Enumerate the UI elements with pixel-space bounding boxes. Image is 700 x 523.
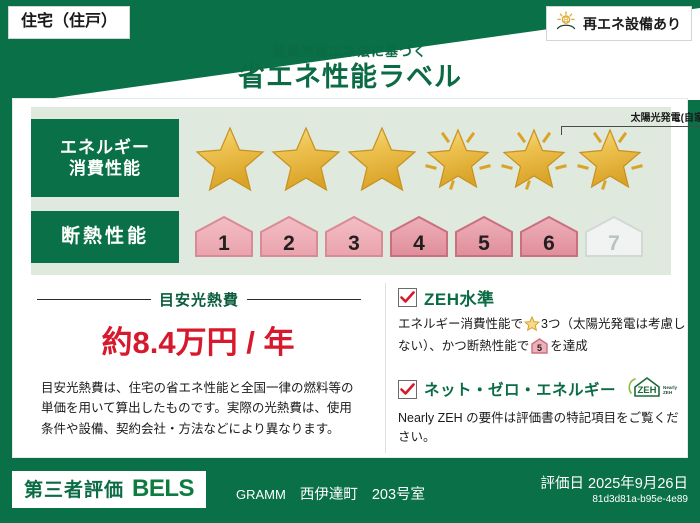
net-zero-energy-header: ネット・ゼロ・エネルギー ZEH Nearly ZEH bbox=[398, 375, 687, 404]
insulation-grade-list: 1 2 3 bbox=[179, 211, 645, 263]
svg-text:5: 5 bbox=[537, 343, 542, 353]
insulation-grade-1-value: 1 bbox=[218, 232, 230, 260]
bels-en-label: BELS bbox=[132, 475, 194, 503]
star-3 bbox=[345, 122, 419, 194]
insulation-grade-2: 2 bbox=[258, 214, 320, 260]
energy-performance-row: エネルギー 消費性能 太陽光発電(自家消費)分 bbox=[31, 119, 647, 197]
insulation-grades-container: 1 2 3 bbox=[179, 211, 645, 263]
renewable-energy-badge: 日 再エネ設備あり bbox=[546, 6, 692, 41]
title-block: 建築物省エネ法に基づく 省エネ性能ラベル bbox=[0, 44, 700, 93]
town-name: 西伊達町 bbox=[300, 483, 358, 504]
insulation-performance-label: 断熱性能 bbox=[31, 211, 179, 263]
net-zero-energy-item: ネット・ゼロ・エネルギー ZEH Nearly ZEH Nearly ZEH の… bbox=[398, 375, 687, 448]
insulation-grade-7-value: 7 bbox=[608, 232, 620, 260]
room-number: 203号室 bbox=[372, 483, 425, 504]
utility-cost-heading: 目安光熱費 bbox=[37, 289, 361, 310]
insulation-performance-row: 断熱性能 bbox=[31, 211, 645, 263]
evaluation-id: 81d3d81a-b95e-4e89 bbox=[541, 493, 688, 507]
star-2 bbox=[269, 122, 343, 194]
insulation-grade-5: 5 bbox=[453, 214, 515, 260]
utility-cost-section: 目安光熱費 約8.4万円 / 年 目安光熱費は、住宅の省エネ性能と全国一律の燃料… bbox=[13, 279, 383, 457]
svg-text:ZEH: ZEH bbox=[663, 390, 673, 395]
zeh-house-logo-icon: ZEH Nearly ZEH bbox=[627, 375, 683, 404]
page-title: 省エネ性能ラベル bbox=[0, 61, 700, 93]
net-zero-energy-body: Nearly ZEH の要件は評価書の特記項目をご覧ください。 bbox=[398, 409, 687, 448]
insulation-grade-7: 7 bbox=[583, 214, 645, 260]
lower-section: 目安光熱費 約8.4万円 / 年 目安光熱費は、住宅の省エネ性能と全国一律の燃料… bbox=[13, 279, 689, 457]
zeh-standard-header: ZEH水準 bbox=[398, 285, 687, 310]
insulation-grade-inline-badge: 5 bbox=[531, 338, 548, 360]
renewable-energy-badge-label: 再エネ設備あり bbox=[583, 15, 681, 33]
zeh-standard-body: エネルギー消費性能で3つ（太陽光発電は考慮しない）、かつ断熱性能で5を達成 bbox=[398, 315, 687, 361]
utility-cost-heading-label: 目安光熱費 bbox=[159, 289, 239, 310]
property-address: GRAMM 西伊達町 203号室 bbox=[236, 483, 425, 504]
evaluation-info: 評価日 2025年9月26日 81d3d81a-b95e-4e89 bbox=[541, 475, 688, 507]
insulation-grade-1: 1 bbox=[193, 214, 255, 260]
checkmark-icon bbox=[398, 380, 417, 399]
zeh-standard-item: ZEH水準 エネルギー消費性能で3つ（太陽光発電は考慮しない）、かつ断熱性能で5… bbox=[398, 285, 687, 361]
zeh-standard-body-part3: を達成 bbox=[550, 339, 588, 353]
utility-cost-note: 目安光熱費は、住宅の省エネ性能と全国一律の燃料等の単価を用いて算出したものです。… bbox=[41, 378, 357, 439]
zeh-section: ZEH水準 エネルギー消費性能で3つ（太陽光発電は考慮しない）、かつ断熱性能で5… bbox=[385, 283, 687, 453]
star-rating bbox=[179, 119, 647, 197]
insulation-grade-3-value: 3 bbox=[348, 232, 360, 260]
checkmark-icon bbox=[398, 288, 417, 307]
title-subtitle: 建築物省エネ法に基づく bbox=[0, 44, 700, 60]
main-card: エネルギー 消費性能 太陽光発電(自家消費)分 bbox=[12, 98, 688, 458]
star-6-solar bbox=[573, 122, 647, 194]
insulation-grade-3: 3 bbox=[323, 214, 385, 260]
bels-jp-label: 第三者評価 bbox=[24, 475, 124, 502]
bels-certification-badge: 第三者評価 BELS bbox=[12, 471, 206, 508]
insulation-grade-5-value: 5 bbox=[478, 232, 490, 260]
performance-panel: エネルギー 消費性能 太陽光発電(自家消費)分 bbox=[31, 107, 671, 275]
energy-label-line1: エネルギー bbox=[60, 137, 150, 158]
utility-cost-value: 約8.4万円 / 年 bbox=[13, 317, 383, 362]
star-icon bbox=[524, 316, 540, 337]
cost-heading-rule-right bbox=[247, 299, 361, 300]
svg-text:ZEH: ZEH bbox=[638, 385, 657, 396]
insulation-grade-6-value: 6 bbox=[543, 232, 555, 260]
energy-label-line2: 消費性能 bbox=[69, 158, 141, 179]
company-name: GRAMM bbox=[236, 487, 286, 502]
star-1 bbox=[193, 122, 267, 194]
energy-performance-label: エネルギー 消費性能 bbox=[31, 119, 179, 197]
star-5-solar bbox=[497, 122, 571, 194]
net-zero-energy-title: ネット・ゼロ・エネルギー bbox=[424, 378, 616, 400]
evaluation-date: 評価日 2025年9月26日 bbox=[541, 475, 688, 493]
footer-bar: 第三者評価 BELS GRAMM 西伊達町 203号室 評価日 2025年9月2… bbox=[0, 461, 700, 523]
insulation-grade-2-value: 2 bbox=[283, 232, 295, 260]
zeh-standard-title: ZEH水準 bbox=[424, 285, 495, 310]
insulation-grade-4: 4 bbox=[388, 214, 450, 260]
sun-solar-icon: 日 bbox=[555, 11, 577, 36]
energy-performance-label: 建築物省エネ法に基づく 省エネ性能ラベル 住宅（住戸） 日 再エネ設備あり bbox=[0, 0, 700, 523]
energy-stars-container: 太陽光発電(自家消費)分 bbox=[179, 119, 647, 197]
zeh-standard-body-part1: エネルギー消費性能で bbox=[398, 317, 523, 331]
insulation-grade-4-value: 4 bbox=[413, 232, 425, 260]
insulation-grade-6: 6 bbox=[518, 214, 580, 260]
cost-heading-rule-left bbox=[37, 299, 151, 300]
building-type-tab: 住宅（住戸） bbox=[8, 6, 130, 39]
svg-text:日: 日 bbox=[563, 17, 568, 24]
star-4-solar bbox=[421, 122, 495, 194]
